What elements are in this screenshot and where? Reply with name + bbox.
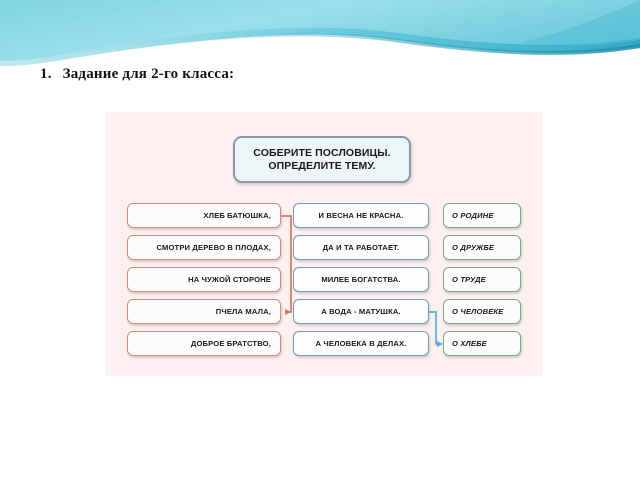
slide-title: 1. Задание для 2-го класса: [40, 66, 234, 83]
theme-card[interactable]: О ХЛЕБЕ [443, 331, 521, 356]
instruction-line-2: ОПРЕДЕЛИТЕ ТЕМУ. [268, 160, 375, 172]
decorative-wave-banner [0, 0, 640, 70]
proverb-start-card[interactable]: ДОБРОЕ БРАТСТВО, [127, 331, 281, 356]
slide-title-number: 1. [40, 66, 52, 82]
theme-card[interactable]: О ЧЕЛОВЕКЕ [443, 299, 521, 324]
wave-mid-ribbon [0, 28, 640, 66]
wave-right-arc [520, 0, 640, 46]
instruction-box: СОБЕРИТЕ ПОСЛОВИЦЫ. ОПРЕДЕЛИТЕ ТЕМУ. [233, 136, 411, 183]
theme-card[interactable]: О РОДИНЕ [443, 203, 521, 228]
proverb-start-card[interactable]: ХЛЕБ БАТЮШКА, [127, 203, 281, 228]
proverb-end-card[interactable]: МИЛЕЕ БОГАТСТВА. [293, 267, 429, 292]
proverb-start-card[interactable]: ПЧЕЛА МАЛА, [127, 299, 281, 324]
wave-white-sweep [0, 35, 640, 70]
wave-upper-fill [0, 0, 640, 62]
proverb-end-card[interactable]: ДА И ТА РАБОТАЕТ. [293, 235, 429, 260]
instruction-line-1: СОБЕРИТЕ ПОСЛОВИЦЫ. [253, 147, 390, 159]
proverb-start-card[interactable]: НА ЧУЖОЙ СТОРОНЕ [127, 267, 281, 292]
proverb-end-card[interactable]: А ВОДА - МАТУШКА. [293, 299, 429, 324]
connector-blue-path [429, 312, 441, 344]
connector-pink-path [281, 216, 291, 312]
connector-pink-arrowhead [285, 309, 291, 315]
proverb-start-card[interactable]: СМОТРИ ДЕРЕВО В ПЛОДАХ, [127, 235, 281, 260]
proverb-end-card[interactable]: И ВЕСНА НЕ КРАСНА. [293, 203, 429, 228]
theme-card[interactable]: О ТРУДЕ [443, 267, 521, 292]
wave-deep-accent [0, 33, 640, 66]
exercise-diagram-panel: СОБЕРИТЕ ПОСЛОВИЦЫ. ОПРЕДЕЛИТЕ ТЕМУ. ХЛЕ… [105, 112, 543, 376]
wave-svg [0, 0, 640, 70]
slide-title-text: Задание для 2-го класса: [63, 66, 235, 82]
theme-card[interactable]: О ДРУЖБЕ [443, 235, 521, 260]
proverb-end-card[interactable]: А ЧЕЛОВЕКА В ДЕЛАХ. [293, 331, 429, 356]
